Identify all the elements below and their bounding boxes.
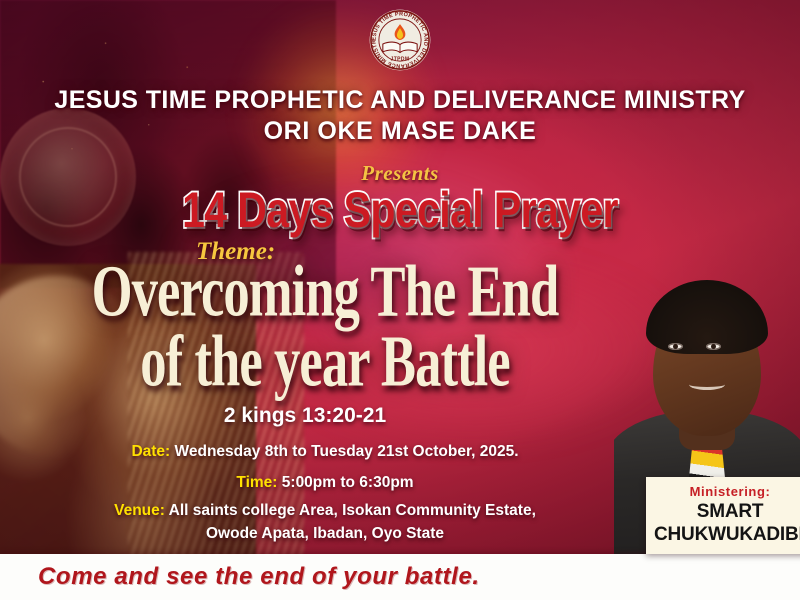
date-value: Wednesday 8th to Tuesday 21st October, 2… — [175, 443, 519, 460]
ministering-panel: Ministering: SMART CHUKWUKADIBIE — [646, 477, 800, 554]
time-label: Time: — [236, 474, 277, 491]
venue-label: Venue: — [114, 502, 165, 519]
svg-text:JTPDM: JTPDM — [391, 56, 410, 62]
ministry-name: JESUS TIME PROPHETIC AND DELIVERANCE MIN… — [0, 86, 800, 114]
time-value: 5:00pm to 6:30pm — [282, 474, 414, 491]
bottom-bar: Come and see the end of your battle. — [0, 554, 800, 600]
scripture-reference: 2 kings 13:20-21 — [0, 404, 610, 428]
venue-value-line2: Owode Apata, Ibadan, Oyo State — [0, 522, 650, 545]
tagline: Come and see the end of your battle. — [38, 563, 480, 591]
minister-eye-left — [668, 343, 683, 350]
venue-row: Venue: All saints college Area, Isokan C… — [0, 499, 650, 546]
minister-name-line-2: CHUKWUKADIBIE — [654, 525, 800, 545]
date-label: Date: — [131, 443, 170, 460]
venue-value-line1: All saints college Area, Isokan Communit… — [169, 502, 536, 519]
theme-line-two: of the year Battle — [20, 320, 631, 403]
event-flyer: JESUS TIME PROPHETIC AND DELIVERANCE MIN… — [0, 0, 800, 600]
ministry-subtitle: ORI OKE MASE DAKE — [0, 117, 800, 146]
time-row: Time: 5:00pm to 6:30pm — [0, 471, 650, 494]
ministry-logo: JESUS TIME PROPHETIC AND DELIVERANCE MIN… — [367, 7, 433, 73]
minister-name-line-1: SMART — [654, 502, 800, 522]
minister-hair — [646, 280, 768, 354]
minister-smile — [689, 379, 725, 390]
flyer-header: JESUS TIME PROPHETIC AND DELIVERANCE MIN… — [0, 86, 800, 146]
minister-eye-right — [706, 343, 721, 350]
date-row: Date: Wednesday 8th to Tuesday 21st Octo… — [0, 440, 650, 463]
ministering-label: Ministering: — [654, 484, 800, 499]
